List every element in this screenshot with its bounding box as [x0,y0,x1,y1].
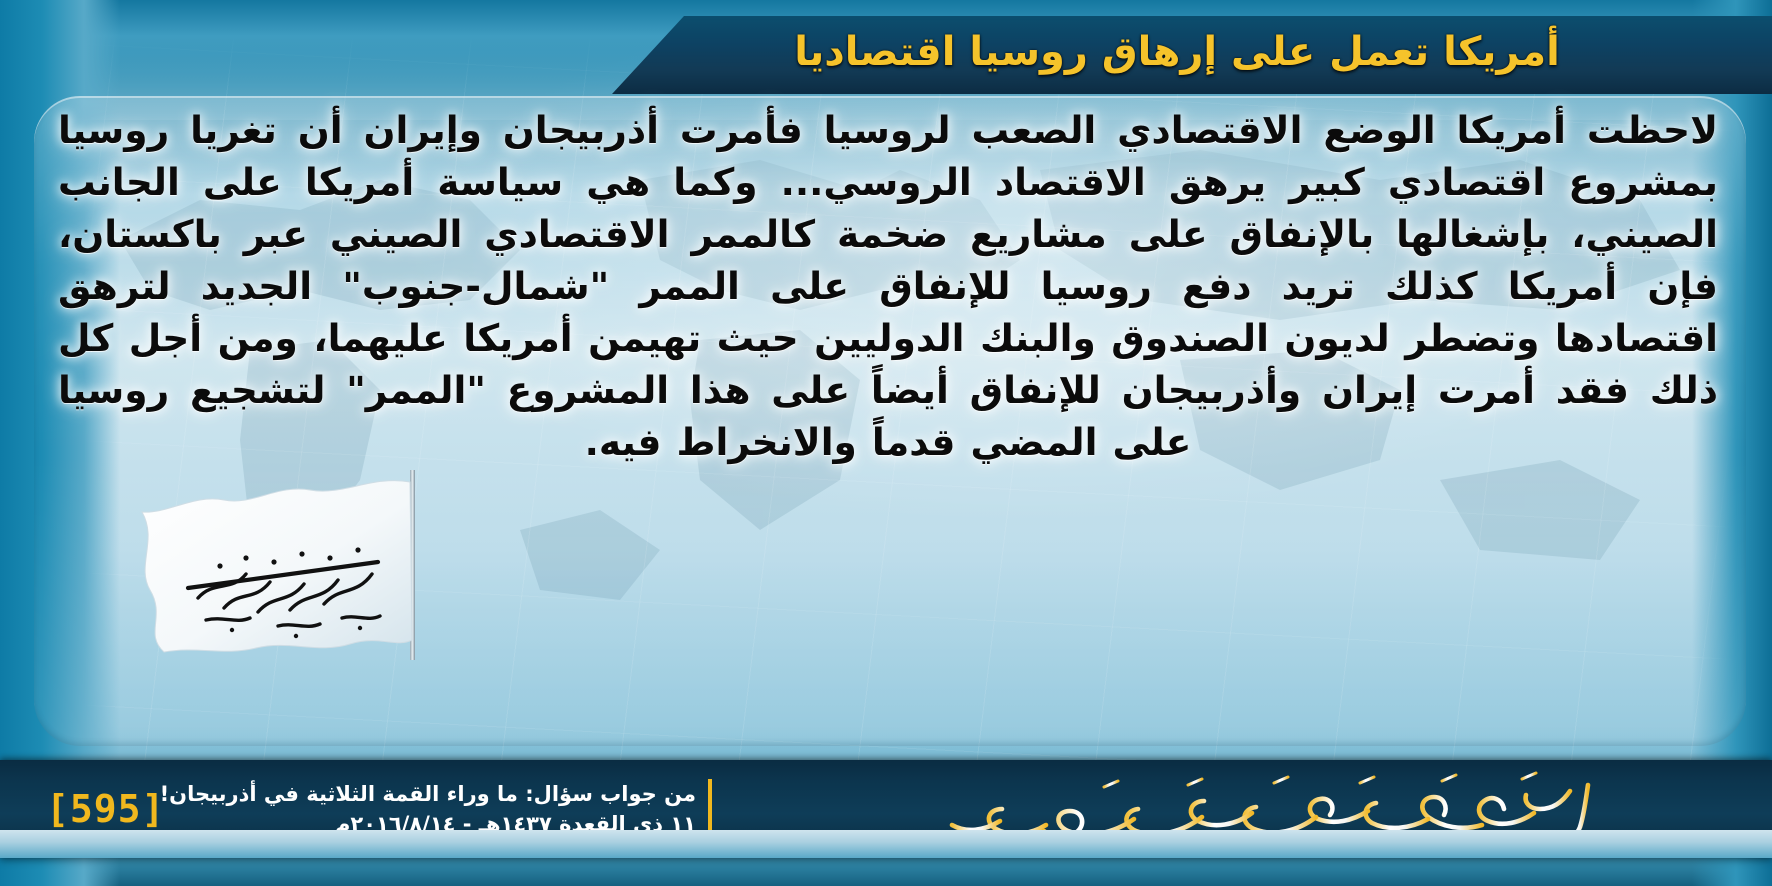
article-body: لاحظت أمريكا الوضع الاقتصادي الصعب لروسي… [58,104,1718,468]
poster-root: أمريكا تعمل على إرهاق روسيا اقتصاديا لاح… [0,0,1772,886]
source-reference-line-1: من جواب سؤال: ما وراء القمة الثلاثية في … [160,779,696,809]
footer-bar: [595] من جواب سؤال: ما وراء القمة الثلاث… [0,760,1772,858]
footer-bottom-strip [0,830,1772,858]
article-paragraph: لاحظت أمريكا الوضع الاقتصادي الصعب لروسي… [58,104,1718,468]
page-title: أمريكا تعمل على إرهاق روسيا اقتصاديا [754,29,1630,81]
issue-number-badge: [595] [46,787,165,831]
white-flag-emblem [128,470,428,660]
title-bar: أمريكا تعمل على إرهاق روسيا اقتصاديا [612,16,1772,94]
